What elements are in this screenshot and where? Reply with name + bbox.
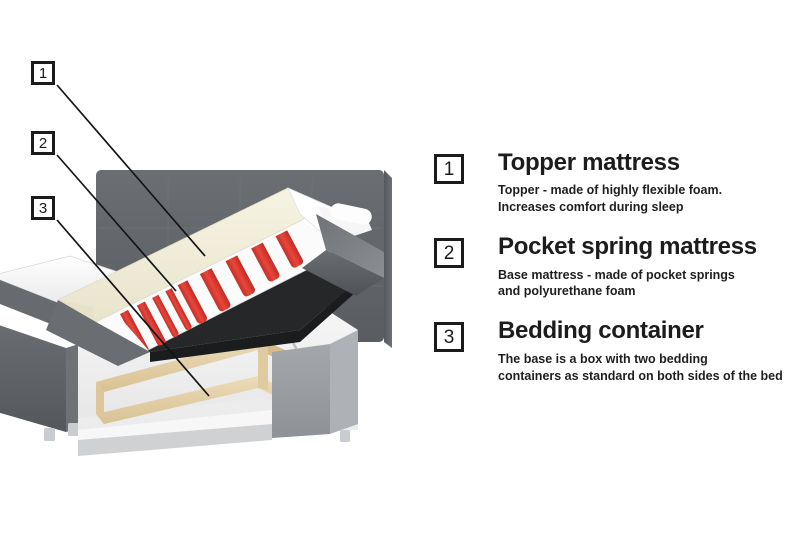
bed-foot [340, 430, 350, 442]
legend-panel: 1 Topper mattress Topper - made of highl… [434, 150, 790, 384]
legend-badge-1: 1 [434, 154, 464, 184]
legend-description-2-line-1: Base mattress - made of pocket springs [498, 267, 790, 284]
legend-title-1: Topper mattress [498, 150, 790, 176]
legend-item-pocket-spring-mattress: 2 Pocket spring mattress Base mattress -… [434, 234, 790, 300]
legend-description-3-line-2: containers as standard on both sides of … [498, 368, 790, 385]
legend-description-1: Topper - made of highly flexible foam. I… [498, 182, 790, 216]
callout-marker-2[interactable]: 2 [31, 131, 55, 155]
legend-badge-3: 3 [434, 322, 464, 352]
legend-description-2: Base mattress - made of pocket springs a… [498, 267, 790, 301]
callout-marker-1[interactable]: 1 [31, 61, 55, 85]
bed-illustration [0, 0, 420, 533]
legend-description-2-line-2: and polyurethane foam [498, 283, 790, 300]
callout-marker-3[interactable]: 3 [31, 196, 55, 220]
legend-badge-2: 2 [434, 238, 464, 268]
legend-description-3: The base is a box with two bedding conta… [498, 351, 790, 385]
legend-description-1-line-2: Increases comfort during sleep [498, 199, 790, 216]
bed-foot [44, 428, 55, 441]
infographic-canvas: 1 2 3 1 Topper mattress Topper - made of… [0, 0, 800, 533]
legend-description-1-line-1: Topper - made of highly flexible foam. [498, 182, 790, 199]
bed-foot [68, 423, 79, 436]
legend-title-2: Pocket spring mattress [498, 234, 790, 260]
legend-item-topper-mattress: 1 Topper mattress Topper - made of highl… [434, 150, 790, 216]
legend-description-3-line-1: The base is a box with two bedding [498, 351, 790, 368]
legend-item-bedding-container: 3 Bedding container The base is a box wi… [434, 318, 790, 384]
legend-title-3: Bedding container [498, 318, 790, 344]
